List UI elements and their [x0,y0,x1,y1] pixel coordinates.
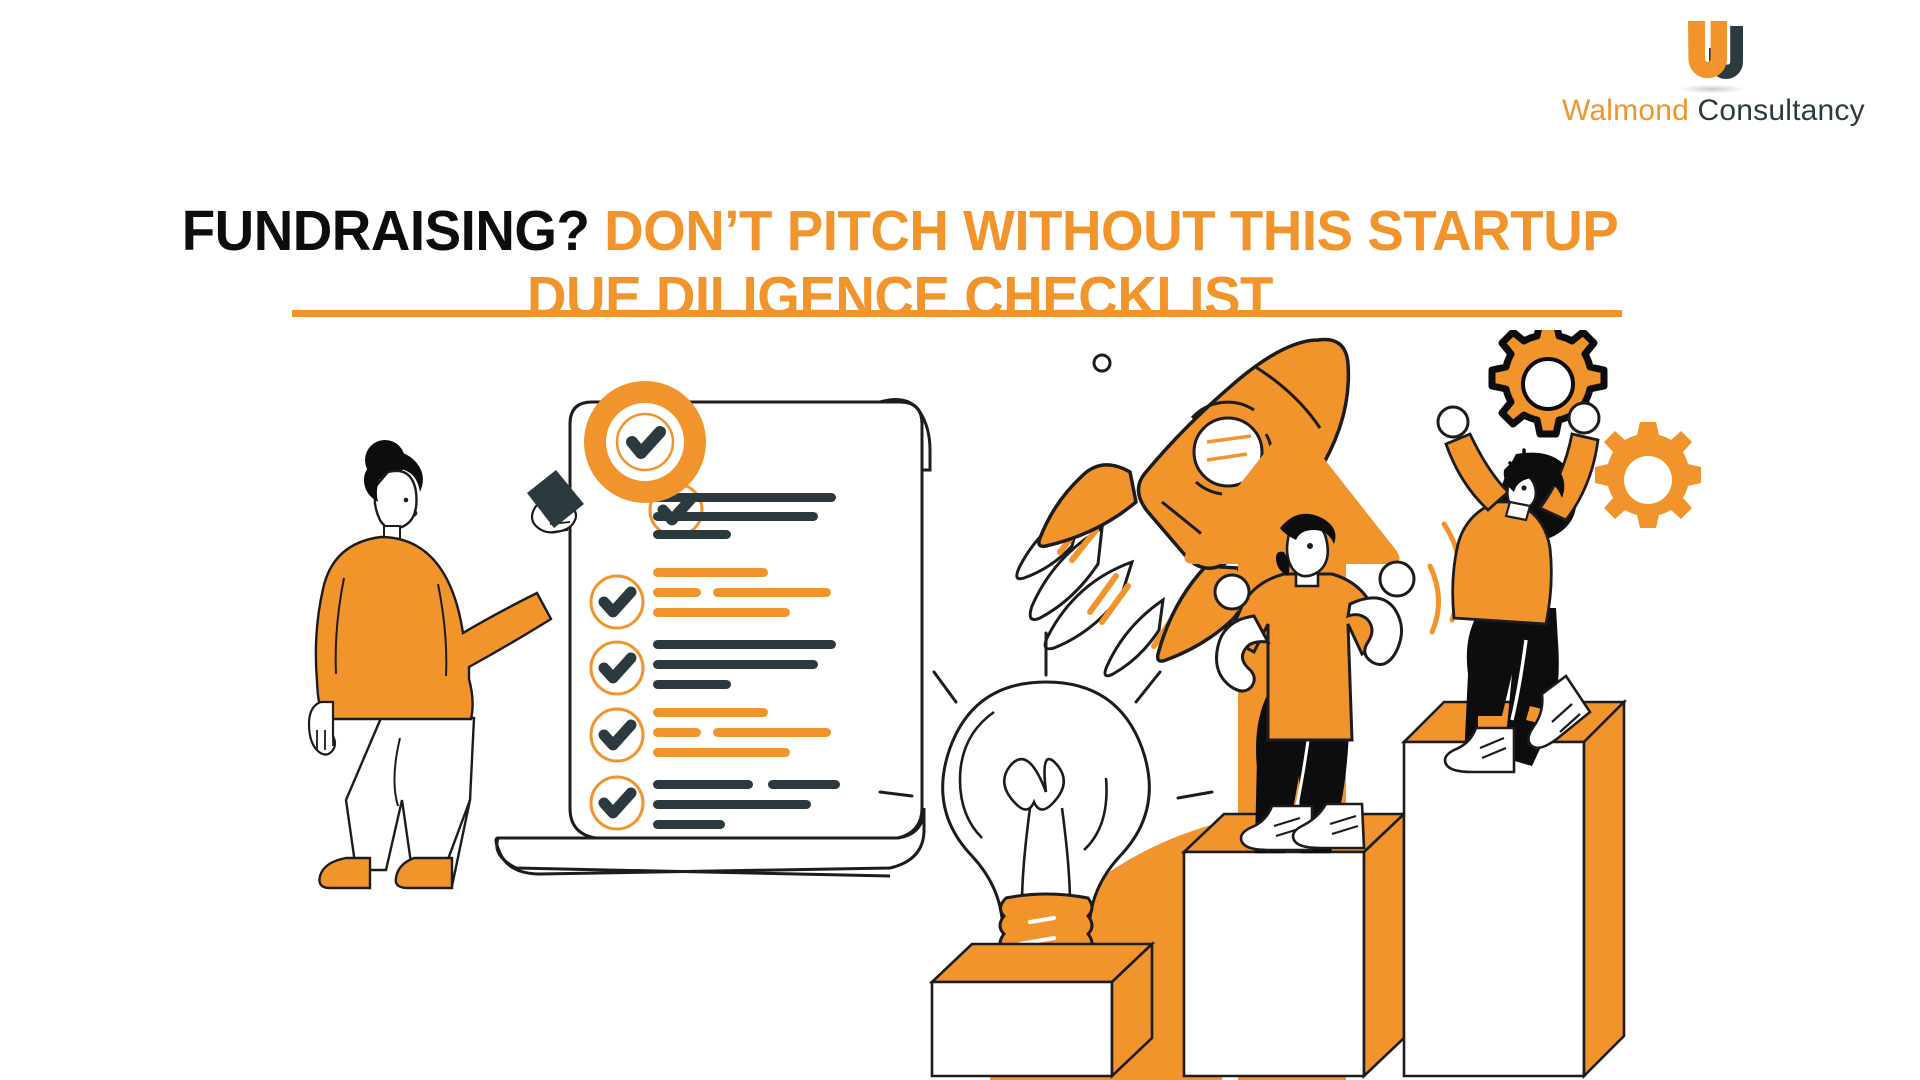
podium-step-2 [1184,814,1404,1076]
brand-logo[interactable]: Walmond Consultancy [1562,18,1862,126]
hero-illustration [0,330,1920,1080]
banner-root: Walmond Consultancy FUNDRAISING? DON’T P… [0,0,1920,1080]
walmond-w-logo-icon [1664,18,1760,94]
headline-accent-2: DILIGENCE CHECKLIST [656,265,1273,329]
checklist-document [496,400,930,876]
woman-with-magnifier [309,440,576,888]
gear-solid-icon [1595,422,1701,528]
title-divider [292,310,1622,317]
brand-name-second: Consultancy [1698,94,1865,127]
brand-wordmark: Walmond Consultancy [1562,96,1862,126]
headline-lead: FUNDRAISING? [182,199,590,263]
brand-name-first: Walmond [1562,94,1689,127]
podium-step-1 [932,944,1152,1076]
